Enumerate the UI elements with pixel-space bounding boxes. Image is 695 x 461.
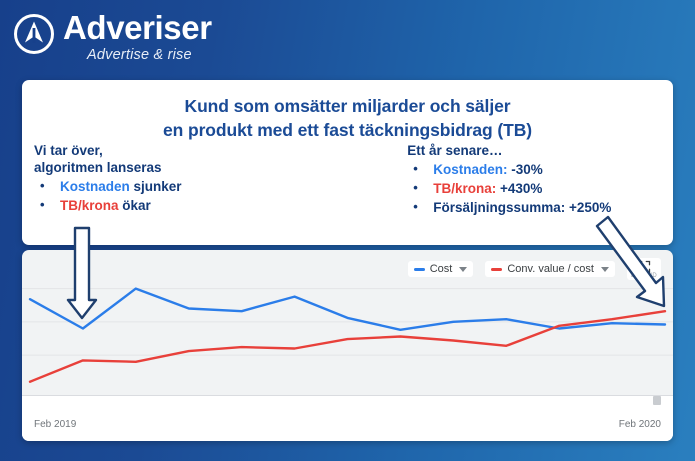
page-title-line2: en produkt med ett fast täckningsbidrag … — [22, 118, 673, 142]
bullet-keyword: Kostnaden — [60, 179, 130, 194]
list-item: Kostnaden: -30% — [407, 160, 673, 179]
list-item: TB/krona ökar — [34, 196, 309, 215]
brand-text: Adveriser Advertise & rise — [63, 10, 212, 64]
chevron-down-icon[interactable] — [601, 267, 609, 272]
axis-label-start: Feb 2019 — [34, 419, 76, 430]
chart-card: Cost Conv. value / cost EXPAND Feb 2019 … — [22, 250, 673, 441]
bullet-rest: ökar — [119, 198, 151, 213]
summary-card: Kund som omsätter miljarder och säljer e… — [22, 80, 673, 245]
expand-button[interactable]: EXPAND — [627, 258, 661, 280]
list-item: Kostnaden sjunker — [34, 177, 309, 196]
bullet-rest: +430% — [496, 181, 542, 196]
legend-item-cost[interactable]: Cost — [408, 261, 474, 277]
list-item: TB/krona: +430% — [407, 179, 673, 198]
callout-right-bullets: Kostnaden: -30% TB/krona: +430% Försäljn… — [407, 160, 673, 217]
legend-item-conv-value[interactable]: Conv. value / cost — [485, 261, 615, 277]
bullet-keyword: TB/krona: — [433, 181, 496, 196]
expand-label: EXPAND — [631, 273, 657, 279]
expand-icon — [637, 260, 651, 274]
callout-right-heading-line1: Ett år senare… — [407, 142, 673, 159]
callout-right-heading: Ett år senare… — [407, 142, 673, 159]
legend-swatch-conv-value — [491, 268, 502, 271]
callout-right: Ett år senare… Kostnaden: -30% TB/krona:… — [407, 142, 673, 217]
callout-left-bullets: Kostnaden sjunker TB/krona ökar — [34, 177, 309, 215]
brand-tagline: Advertise & rise — [87, 46, 212, 64]
chart-footer — [22, 395, 673, 441]
page-title-line1: Kund som omsätter miljarder och säljer — [22, 94, 673, 118]
legend-swatch-cost — [414, 268, 425, 271]
callout-left-heading-line1: Vi tar över, — [34, 142, 309, 159]
bullet-rest: Försäljningssumma: +250% — [433, 200, 611, 215]
logo-icon — [12, 12, 56, 56]
bullet-rest: -30% — [508, 162, 543, 177]
callout-blocks: Vi tar över, algoritmen lanseras Kostnad… — [22, 142, 673, 217]
callout-left: Vi tar över, algoritmen lanseras Kostnad… — [34, 142, 309, 217]
axis-label-end: Feb 2020 — [619, 419, 661, 430]
bullet-keyword: TB/krona — [60, 198, 119, 213]
bullet-keyword: Kostnaden: — [433, 162, 507, 177]
callout-left-heading: Vi tar över, algoritmen lanseras — [34, 142, 309, 176]
bullet-rest: sjunker — [130, 179, 182, 194]
chart-legend: Cost Conv. value / cost EXPAND — [408, 258, 661, 280]
page-title: Kund som omsätter miljarder och säljer e… — [22, 80, 673, 142]
legend-label-conv-value: Conv. value / cost — [507, 263, 594, 275]
chevron-down-icon[interactable] — [459, 267, 467, 272]
callout-left-heading-line2: algoritmen lanseras — [34, 159, 309, 176]
brand-header: Adveriser Advertise & rise — [12, 10, 212, 64]
axis-marker-icon — [653, 396, 661, 405]
brand-name: Adveriser — [63, 10, 212, 46]
list-item: Försäljningssumma: +250% — [407, 198, 673, 217]
legend-label-cost: Cost — [430, 263, 453, 275]
